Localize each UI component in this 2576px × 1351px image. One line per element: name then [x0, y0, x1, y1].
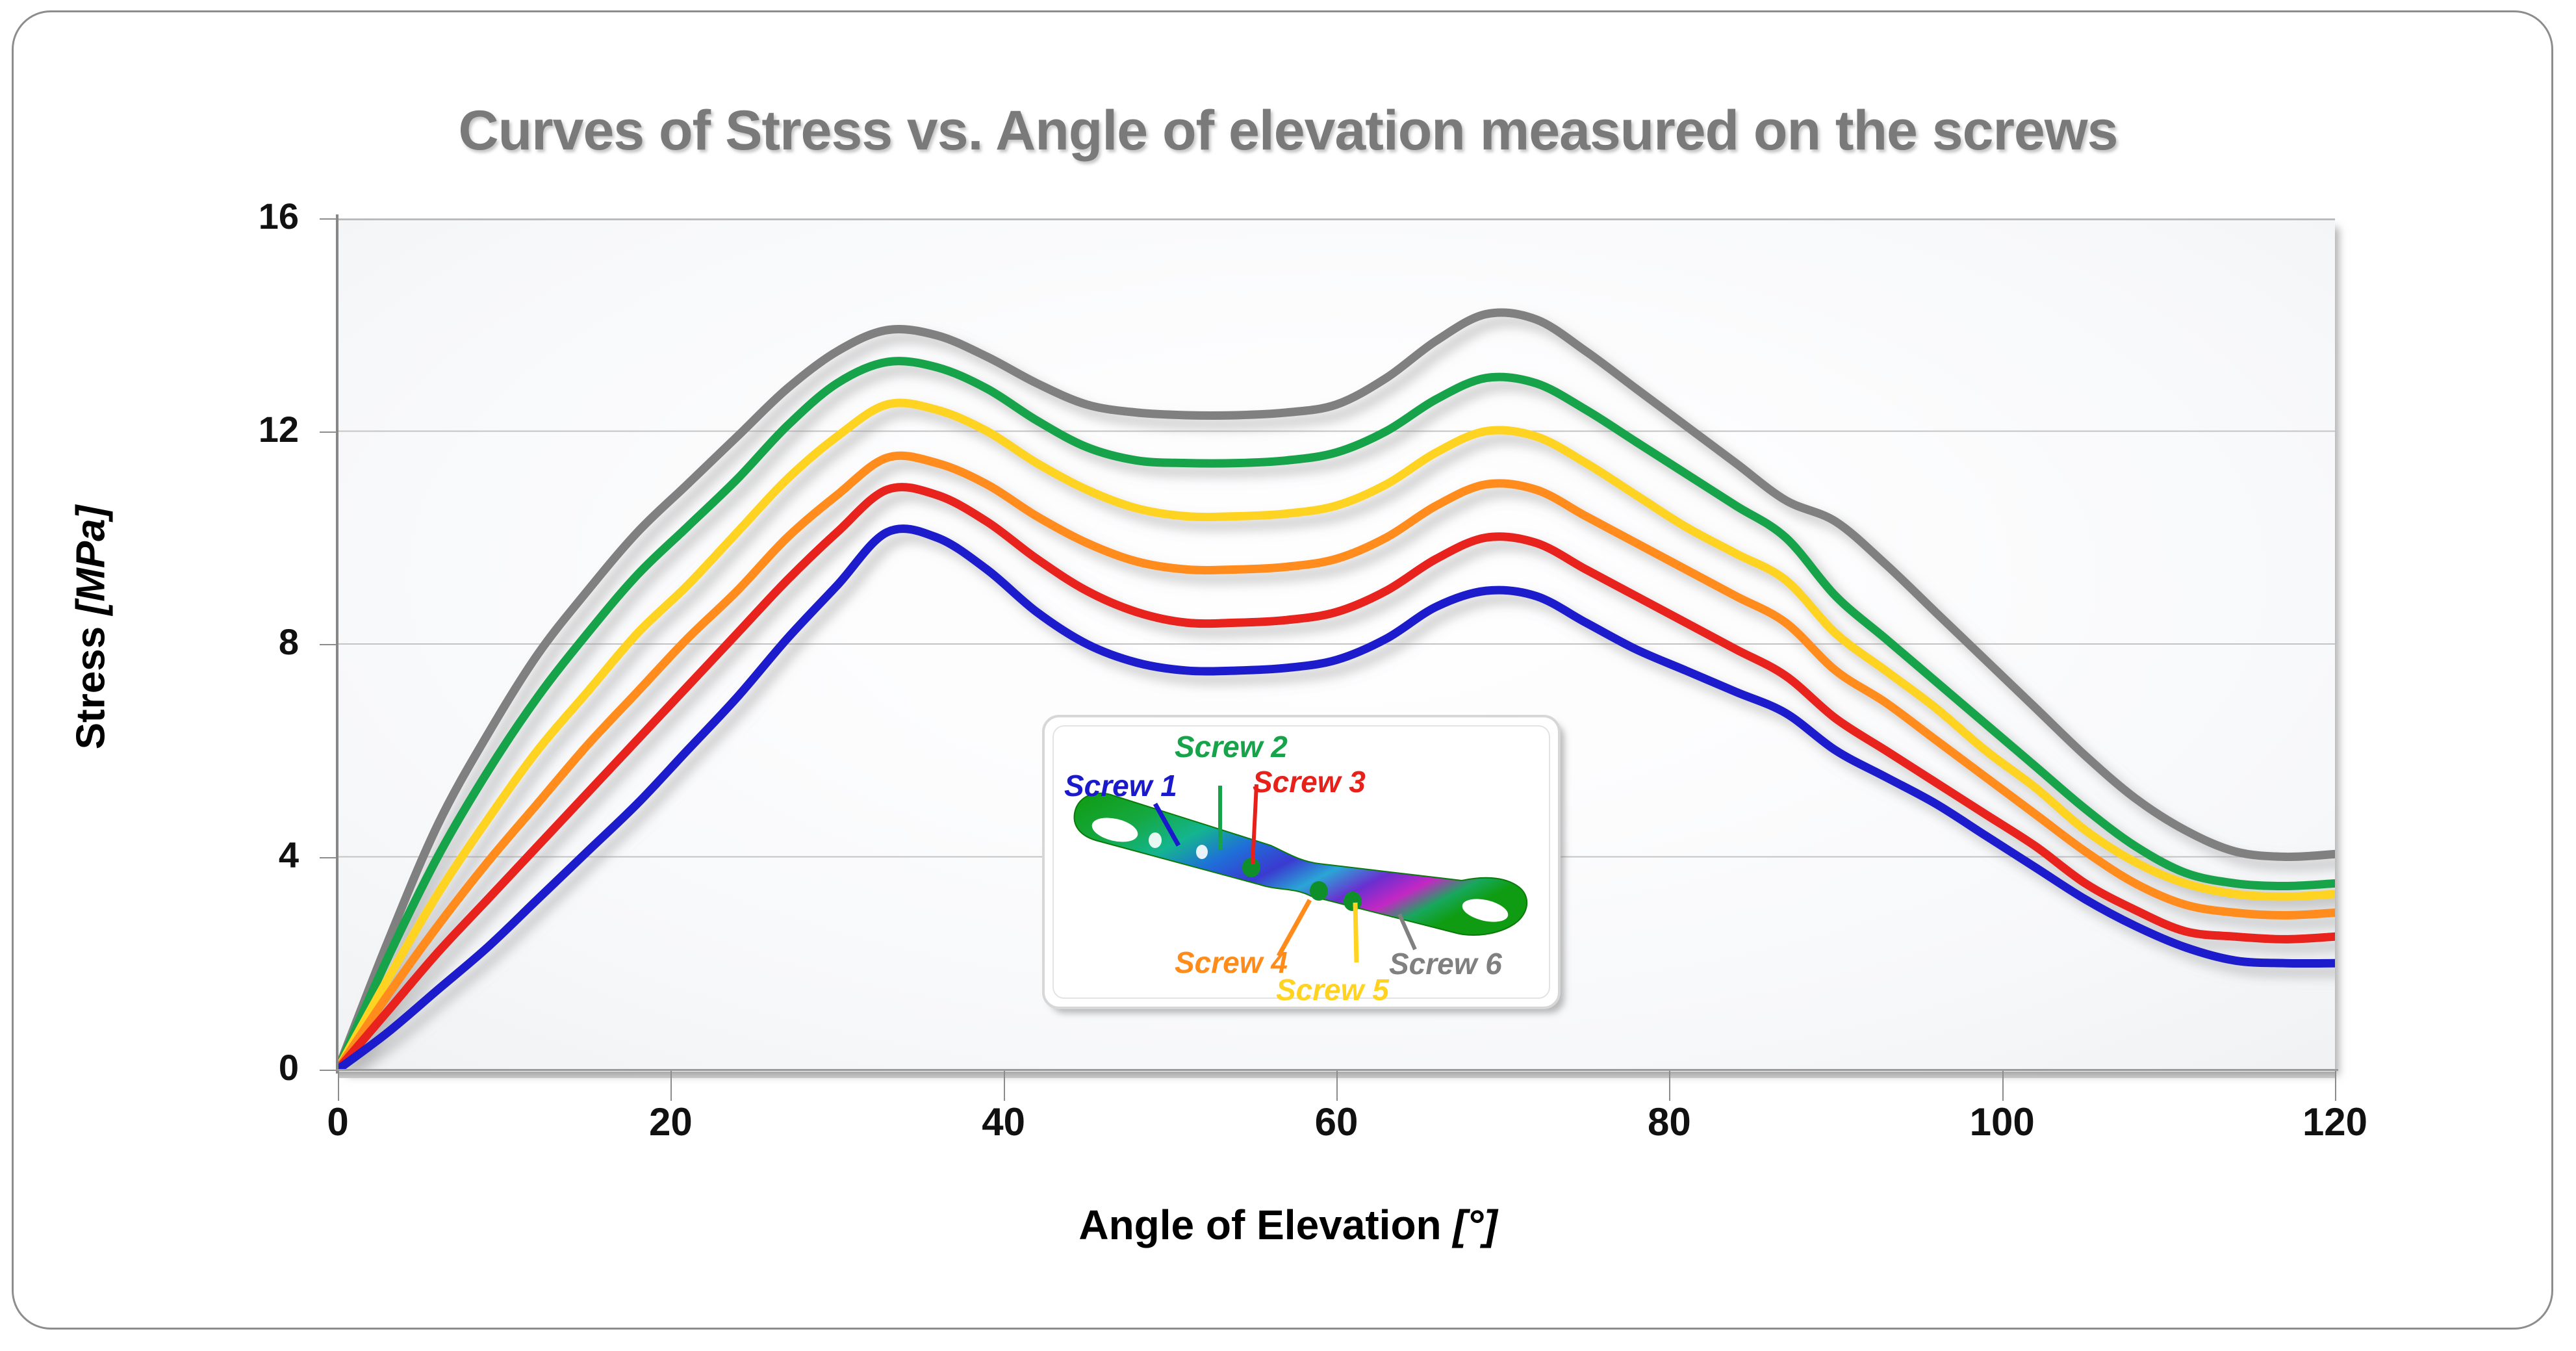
x-tick-label: 20 — [599, 1100, 742, 1144]
x-tick-mark — [1004, 1071, 1005, 1101]
y-tick-label: 12 — [97, 408, 299, 450]
y-tick-label: 8 — [97, 621, 299, 663]
x-axis-title: Angle of Elevation [°] — [0, 1201, 2576, 1249]
x-tick-mark — [338, 1071, 339, 1101]
y-tick-label: 4 — [97, 834, 299, 876]
y-tick-label: 16 — [97, 195, 299, 237]
x-tick-label: 0 — [266, 1100, 409, 1144]
x-tick-label: 100 — [1931, 1100, 2074, 1144]
x-tick-label: 80 — [1598, 1100, 1741, 1144]
y-tick-mark — [320, 857, 337, 858]
y-tick-label: 0 — [97, 1046, 299, 1088]
x-tick-mark — [1669, 1071, 1670, 1101]
screw-1-label: Screw 1 — [1064, 768, 1177, 803]
y-axis-title-main: Stress — [69, 615, 114, 749]
screw-3-label: Screw 3 — [1253, 764, 1366, 799]
screw-2-label: Screw 2 — [1175, 729, 1288, 764]
x-axis-unit: [°] — [1453, 1202, 1497, 1248]
y-axis-title: Stress [MPa] — [68, 400, 114, 855]
screw-5-label: Screw 5 — [1276, 972, 1389, 1007]
screw-6-label: Screw 6 — [1389, 946, 1502, 981]
x-tick-mark — [2002, 1071, 2004, 1101]
x-tick-mark — [1336, 1071, 1338, 1101]
inset-legend-box: Screw 1 Screw 2 Screw 3 Screw 4 Screw 5 … — [1042, 715, 1561, 1009]
x-axis-title-main: Angle of Elevation — [1078, 1202, 1453, 1248]
screw-4-label: Screw 4 — [1175, 945, 1288, 980]
x-tick-mark — [670, 1071, 672, 1101]
x-tick-label: 120 — [2264, 1100, 2406, 1144]
y-tick-mark — [320, 644, 337, 645]
y-tick-mark — [320, 218, 337, 220]
x-tick-label: 60 — [1265, 1100, 1408, 1144]
x-tick-label: 40 — [932, 1100, 1075, 1144]
y-axis-unit: [MPa] — [69, 506, 114, 615]
y-tick-mark — [320, 1070, 337, 1071]
chart-title: Curves of Stress vs. Angle of elevation … — [0, 99, 2576, 163]
y-tick-mark — [320, 431, 337, 433]
x-tick-mark — [2335, 1071, 2336, 1101]
